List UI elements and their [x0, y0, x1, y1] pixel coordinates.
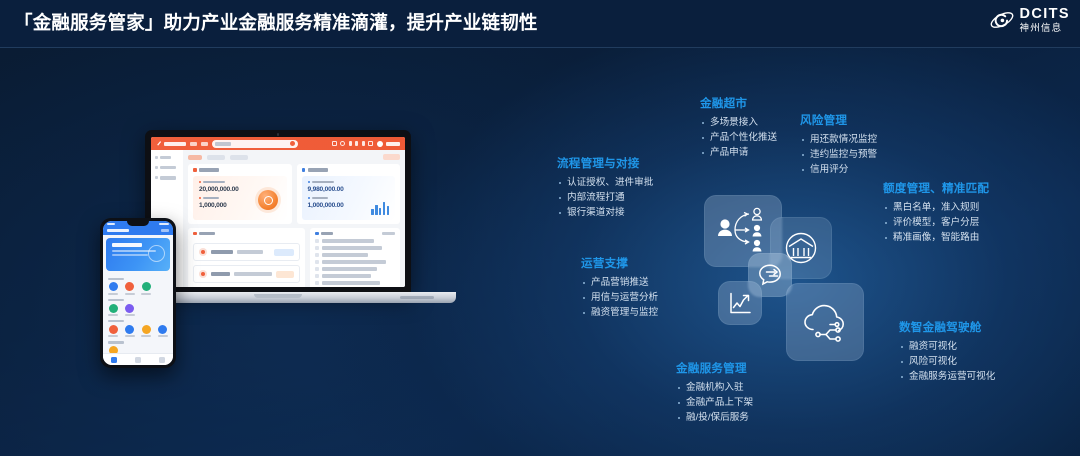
- process-list-card: [188, 228, 305, 288]
- sidebar-item-3[interactable]: [155, 176, 179, 179]
- block-risk-list: 用还款情况监控 违约监控与预警 信用评分: [800, 132, 877, 177]
- page-title: 「金融服务管家」助力产业金融服务精准滴灌，提升产业链韧性: [14, 9, 538, 35]
- phone-tabbar[interactable]: [103, 353, 174, 365]
- help-icon[interactable]: [340, 141, 345, 146]
- nav-item-2[interactable]: [201, 142, 208, 146]
- announcement-item[interactable]: [315, 274, 395, 278]
- laptop-foot: [400, 296, 434, 299]
- list-item: 信用评分: [800, 162, 877, 177]
- announcement-item[interactable]: [315, 260, 395, 264]
- nav-item-1[interactable]: [190, 142, 197, 146]
- coin-badge-icon: [258, 190, 278, 210]
- tab-2[interactable]: [207, 155, 225, 160]
- sidebar-item-1[interactable]: [155, 156, 179, 159]
- phone-app-icon[interactable]: [124, 282, 135, 294]
- block-market-title: 金融超市: [700, 95, 777, 111]
- status-badge[interactable]: [274, 249, 294, 256]
- kpi-value-3: 9,980,000.00: [308, 186, 390, 193]
- search-icon[interactable]: [290, 141, 295, 146]
- list-item: 内部流程打通: [557, 190, 653, 205]
- logo-text-cn: 神州信息: [1020, 24, 1071, 34]
- phone-section-2: [103, 295, 174, 316]
- dashboard-toolbar-icons[interactable]: [332, 141, 401, 147]
- list-item: 黑白名单，准入规则: [883, 200, 989, 215]
- phone-app-icon[interactable]: [141, 282, 152, 294]
- list-item: 风险可视化: [899, 354, 995, 369]
- phone-section-3: [103, 316, 174, 337]
- dashboard-tabs[interactable]: [188, 154, 400, 160]
- list-item: 精准画像，智能路由: [883, 230, 989, 245]
- dashboard-main: 20,000,000.00 1,000,000 9,: [183, 150, 405, 287]
- icon-cluster: [700, 193, 880, 368]
- block-quota-title: 额度管理、精准匹配: [883, 180, 989, 196]
- block-risk-title: 风险管理: [800, 112, 877, 128]
- dashboard-search-input[interactable]: [212, 140, 298, 148]
- block-process: 流程管理与对接 认证授权、进件审批 内部流程打通 银行渠道对接: [557, 155, 653, 220]
- list-item: 融/投/保后服务: [676, 410, 753, 425]
- laptop-notch: [254, 294, 302, 298]
- list-item: 产品个性化推送: [700, 130, 777, 145]
- dashboard-body: 20,000,000.00 1,000,000 9,: [151, 150, 405, 287]
- block-fsm-list: 金融机构入驻 金融产品上下架 融/投/保后服务: [676, 380, 753, 425]
- kpi-card-financing: 20,000,000.00 1,000,000: [188, 164, 292, 224]
- logo-text-en: DCITS: [1020, 7, 1071, 22]
- block-process-list: 认证授权、进件审批 内部流程打通 银行渠道对接: [557, 175, 653, 220]
- block-fsm-title: 金融服务管理: [676, 360, 753, 376]
- block-financial-service-management: 金融服务管理 金融机构入驻 金融产品上下架 融/投/保后服务: [676, 360, 753, 425]
- laptop-mockup: 20,000,000.00 1,000,000 9,: [145, 130, 411, 293]
- kpi-card-quota: 9,980,000.00 1,000,000.00: [297, 164, 401, 224]
- cloud-tech-icon: [786, 283, 864, 361]
- list-item: 产品申请: [700, 145, 777, 160]
- block-cockpit-title: 数智金融驾驶舱: [899, 319, 995, 335]
- block-quota-list: 黑白名单，准入规则 评价模型，客户分层 精准画像，智能路由: [883, 200, 989, 245]
- list-item: 用信与运营分析: [581, 290, 658, 305]
- list-item: 金融服务运营可视化: [899, 369, 995, 384]
- page-header: 「金融服务管家」助力产业金融服务精准滴灌，提升产业链韧性 DCITS 神州信息: [0, 0, 1080, 48]
- announcement-item[interactable]: [315, 239, 395, 243]
- brand-label: [164, 142, 186, 146]
- slide-canvas: 「金融服务管家」助力产业金融服务精准滴灌，提升产业链韧性 DCITS 神州信息: [0, 0, 1080, 456]
- phone-app-header: [103, 227, 174, 235]
- status-badge[interactable]: [276, 271, 295, 278]
- phone-app-icon[interactable]: [124, 325, 135, 337]
- list-item: 违约监控与预警: [800, 147, 877, 162]
- brand-icon: [156, 141, 162, 147]
- list-item: 多场景接入: [700, 115, 777, 130]
- step-icon: [199, 270, 207, 278]
- announcement-card: [310, 228, 400, 288]
- view-more-link[interactable]: [382, 232, 395, 235]
- tab-3[interactable]: [230, 155, 248, 160]
- phone-section-1: [103, 274, 174, 295]
- phone-app-title: [107, 229, 129, 232]
- bar-chart-icon: [371, 202, 389, 215]
- content-row: [188, 228, 400, 288]
- phone-app-icon[interactable]: [141, 325, 152, 337]
- announcement-item[interactable]: [315, 246, 395, 250]
- block-operations-title: 运营支撑: [581, 255, 658, 271]
- phone-screen: [103, 221, 174, 366]
- phone-header-action[interactable]: [161, 229, 169, 232]
- phone-banner[interactable]: [106, 238, 171, 271]
- user-name-label: [386, 142, 400, 146]
- block-market-list: 多场景接入 产品个性化推送 产品申请: [700, 115, 777, 160]
- announcement-item[interactable]: [315, 281, 395, 285]
- block-quota: 额度管理、精准匹配 黑白名单，准入规则 评价模型，客户分层 精准画像，智能路由: [883, 180, 989, 245]
- announcement-item[interactable]: [315, 253, 395, 257]
- globe-icon: [148, 245, 165, 262]
- filter-icon[interactable]: [355, 141, 358, 146]
- grid-icon[interactable]: [332, 141, 337, 146]
- avatar[interactable]: [377, 141, 383, 147]
- doc-icon[interactable]: [368, 141, 373, 146]
- list-item: 用还款情况监控: [800, 132, 877, 147]
- phone-app-icon[interactable]: [108, 282, 119, 294]
- phone-app-icon[interactable]: [124, 304, 135, 316]
- list-item: 银行渠道对接: [557, 205, 653, 220]
- bell-icon[interactable]: [362, 141, 365, 146]
- phone-app-icon[interactable]: [157, 325, 168, 337]
- block-process-title: 流程管理与对接: [557, 155, 653, 171]
- announcement-item[interactable]: [315, 267, 395, 271]
- kpi-panel-financing: 20,000,000.00 1,000,000: [193, 176, 287, 220]
- growth-chart-icon: [718, 281, 762, 325]
- list-item: 认证授权、进件审批: [557, 175, 653, 190]
- kpi-panel-quota: 9,980,000.00 1,000,000.00: [302, 176, 396, 220]
- block-market: 金融超市 多场景接入 产品个性化推送 产品申请: [700, 95, 777, 160]
- phone-app-icon[interactable]: [108, 304, 119, 316]
- device-mockups: 20,000,000.00 1,000,000 9,: [100, 130, 460, 360]
- list-item: 融资管理与监控: [581, 305, 658, 320]
- step-icon: [199, 248, 207, 256]
- phone-tab-service[interactable]: [135, 357, 141, 363]
- list-item: 评价模型，客户分层: [883, 215, 989, 230]
- phone-app-icon[interactable]: [108, 325, 119, 337]
- list-item: 融资可视化: [899, 339, 995, 354]
- menu-icon[interactable]: [349, 141, 352, 146]
- list-item: 产品营销推送: [581, 275, 658, 290]
- tab-active[interactable]: [188, 155, 202, 160]
- swirl-logo-icon: [989, 7, 1015, 33]
- block-risk: 风险管理 用还款情况监控 违约监控与预警 信用评分: [800, 112, 877, 177]
- laptop-screen: 20,000,000.00 1,000,000 9,: [151, 137, 405, 287]
- phone-tab-mine[interactable]: [159, 357, 165, 363]
- sidebar-item-2[interactable]: [155, 166, 179, 169]
- kpi-row: 20,000,000.00 1,000,000 9,: [188, 164, 400, 224]
- list-item[interactable]: [193, 243, 300, 261]
- block-operations: 运营支撑 产品营销推送 用信与运营分析 融资管理与监控: [581, 255, 658, 320]
- phone-notch: [127, 221, 149, 226]
- list-item: 金融机构入驻: [676, 380, 753, 395]
- block-operations-list: 产品营销推送 用信与运营分析 融资管理与监控: [581, 275, 658, 320]
- list-item[interactable]: [193, 265, 300, 283]
- phone-mockup: [100, 218, 176, 368]
- dashboard-topbar: [151, 137, 405, 150]
- brand-logo: DCITS 神州信息: [989, 7, 1071, 33]
- dashboard-action-button[interactable]: [383, 154, 400, 160]
- block-cockpit: 数智金融驾驶舱 融资可视化 风险可视化 金融服务运营可视化: [899, 319, 995, 384]
- phone-tab-home[interactable]: [111, 357, 117, 363]
- list-item: 金融产品上下架: [676, 395, 753, 410]
- dashboard-brand: [156, 141, 186, 147]
- block-cockpit-list: 融资可视化 风险可视化 金融服务运营可视化: [899, 339, 995, 384]
- announcement-list: [315, 239, 395, 285]
- laptop-camera-icon: [277, 133, 280, 136]
